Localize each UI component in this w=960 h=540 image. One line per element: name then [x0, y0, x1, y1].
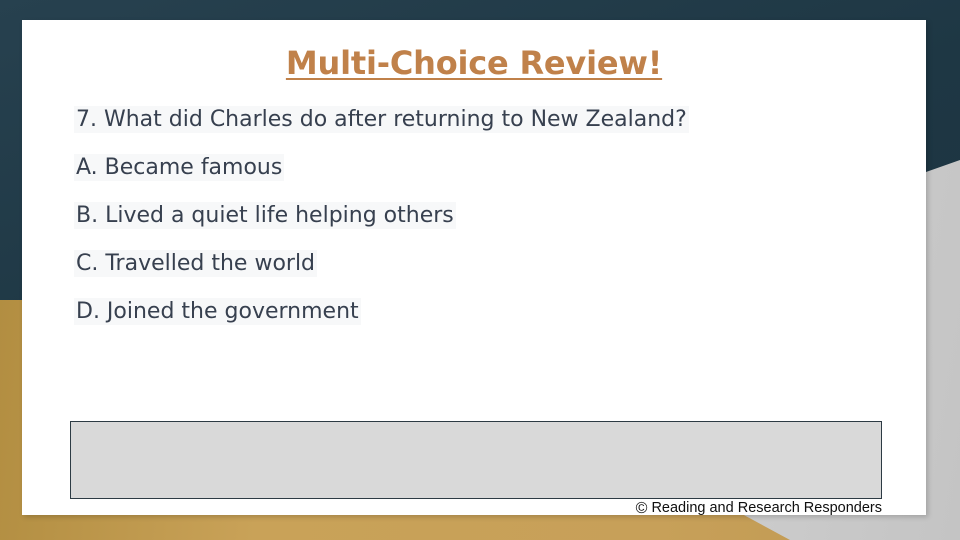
- slide-content-card: Multi-Choice Review! 7. What did Charles…: [22, 20, 926, 515]
- option-c[interactable]: C. Travelled the world: [74, 240, 894, 288]
- copyright-icon: ©: [636, 500, 648, 517]
- question-line: 7. What did Charles do after returning t…: [74, 96, 894, 144]
- option-a[interactable]: A. Became famous: [74, 144, 894, 192]
- option-b[interactable]: B. Lived a quiet life helping others: [74, 192, 894, 240]
- copyright-label: Reading and Research Responders: [651, 500, 882, 516]
- option-d-label: D. Joined the government: [74, 298, 361, 325]
- option-b-label: B. Lived a quiet life helping others: [74, 202, 456, 229]
- slide-title: Multi-Choice Review!: [22, 44, 926, 82]
- question-answer-block: 7. What did Charles do after returning t…: [74, 96, 894, 336]
- option-d[interactable]: D. Joined the government: [74, 288, 894, 336]
- presentation-slide: Multi-Choice Review! 7. What did Charles…: [0, 0, 960, 540]
- answer-response-box[interactable]: [70, 421, 882, 499]
- option-c-label: C. Travelled the world: [74, 250, 317, 277]
- copyright-notice: © Reading and Research Responders: [22, 500, 882, 518]
- option-a-label: A. Became famous: [74, 154, 284, 181]
- question-text: 7. What did Charles do after returning t…: [74, 106, 689, 133]
